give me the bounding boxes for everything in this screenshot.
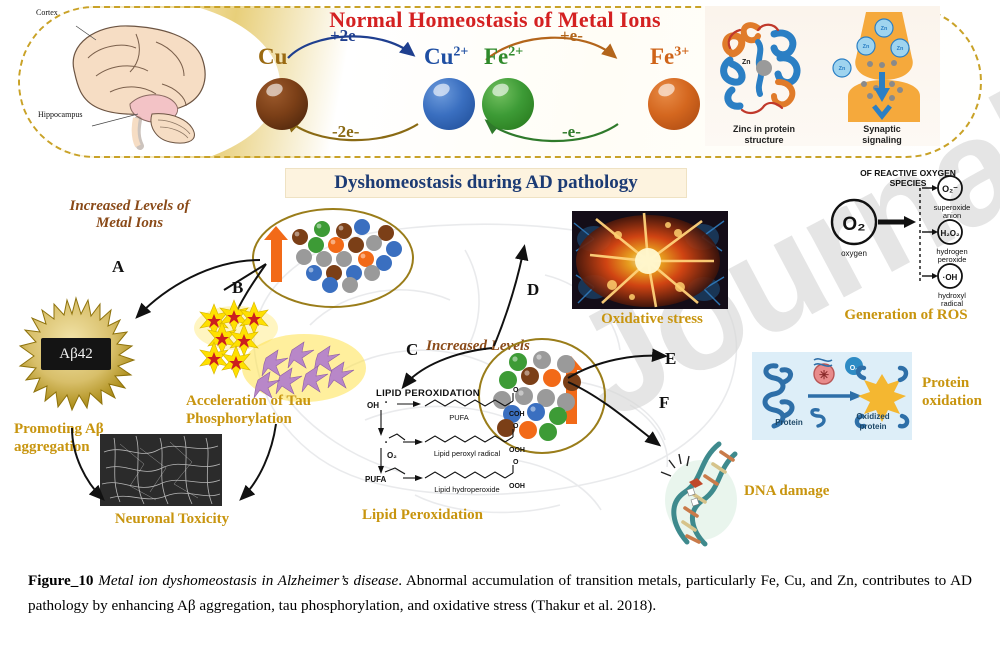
zinc-protein-caption: Zinc in protein structure [706, 124, 822, 146]
svg-text:PUFA: PUFA [365, 475, 387, 484]
species-label-fe2plus: Fe2+ [484, 44, 523, 70]
cluster-top-label: Increased Levels of Metal Ions [22, 198, 237, 232]
arrow-letter-d: D [527, 280, 539, 300]
brain-illustration-icon [44, 14, 234, 146]
svg-text:O: O [513, 423, 519, 430]
svg-text:OOH: OOH [509, 447, 525, 454]
svg-text:·OH: ·OH [943, 273, 958, 282]
svg-text:O: O [513, 459, 519, 466]
transition-label-plus1e: +e- [560, 26, 583, 46]
svg-text:Lipid peroxyl radical: Lipid peroxyl radical [434, 449, 501, 458]
svg-text:OH: OH [367, 401, 379, 410]
protein-inset-caption-right: Oxidized protein [840, 412, 906, 431]
synaptic-signaling-caption: Synaptic signaling [824, 124, 940, 146]
svg-text:•: • [385, 400, 387, 406]
label-oxidative-stress: Oxidative stress [568, 310, 736, 328]
svg-text:•: • [385, 440, 387, 446]
caption-title-italic: Metal ion dyshomeostasis in Alzheimer’s … [98, 572, 398, 589]
arrow-letter-a: A [112, 257, 124, 277]
protein-inset-caption-left: Protein [758, 418, 820, 428]
species-label-cu: Cu [258, 44, 287, 70]
svg-text:oxygen: oxygen [841, 249, 867, 258]
abeta42-chip-label: Aβ42 [41, 338, 111, 370]
redox-cycle-arrows [240, 20, 710, 150]
arrow-letter-c: C [406, 340, 418, 360]
middle-panel-title: Dyshomeostasis during AD pathology [285, 168, 687, 198]
brain-label-cortex: Cortex [36, 8, 58, 17]
svg-text:H₂O₂: H₂O₂ [940, 229, 960, 238]
transition-label-minus1e: -e- [562, 122, 581, 142]
arrows-to-neuronal-toxicity [54, 424, 304, 516]
svg-text:PUFA: PUFA [449, 413, 469, 422]
svg-text:anion: anion [943, 211, 961, 220]
label-lipid-peroxidation: Lipid Peroxidation [362, 506, 572, 524]
ion-sphere-fe2 [482, 78, 534, 130]
svg-text:peroxide: peroxide [938, 255, 967, 264]
ion-sphere-fe3 [648, 78, 700, 130]
synaptic-signaling-icon: ZnZnZnZn [830, 10, 938, 124]
svg-text:O₂: O₂ [387, 451, 397, 460]
oxidative-stress-neuron-image [572, 211, 728, 309]
caption-figure-number: Figure_10 [28, 572, 94, 589]
svg-text:Zn: Zn [742, 59, 751, 66]
dna-damage-icon [653, 438, 749, 546]
svg-text:Lipid hydroperoxide: Lipid hydroperoxide [434, 485, 499, 494]
label-dna-damage: DNA damage [744, 482, 894, 500]
arrow-letter-b: B [232, 278, 243, 298]
figure-image: Journal Pre-proof Normal Homeostasis of … [0, 0, 1000, 556]
label-acceleration-tau-phosphorylation: Acceleration of Tau Phosphorylation [186, 392, 386, 428]
brain-label-hippocampus: Hippocampus [38, 110, 82, 119]
ros-generation-diagram: O₂ oxygen O₂⁻ H₂O₂ ·OH superoxideanion h… [820, 170, 992, 308]
label-protein-oxidation: Protein oxidation [922, 374, 1000, 410]
transition-label-minus2e: -2e- [332, 122, 359, 142]
label-generation-of-ros: Generation of ROS [812, 306, 1000, 324]
transition-label-plus2e: +2e- [330, 26, 361, 46]
svg-text:Zn: Zn [897, 46, 904, 52]
svg-text:OOH: OOH [509, 483, 525, 490]
svg-text:O: O [513, 387, 519, 394]
ion-sphere-cu2 [423, 78, 475, 130]
arrow-letter-f: F [659, 393, 669, 413]
svg-text:Zn: Zn [839, 66, 846, 72]
species-label-fe3plus: Fe3+ [650, 44, 689, 70]
arrow-letter-e: E [665, 349, 676, 369]
svg-text:COH: COH [509, 411, 525, 418]
ion-sphere-cu [256, 78, 308, 130]
zinc-protein-structure-icon: Zn [712, 12, 822, 124]
svg-text:✳: ✳ [819, 368, 829, 382]
svg-text:O₂⁻: O₂⁻ [942, 184, 958, 194]
svg-text:O₂: O₂ [842, 214, 865, 235]
svg-text:Zn: Zn [881, 26, 888, 32]
svg-text:Zn: Zn [863, 44, 870, 50]
figure-caption: Figure_10 Metal ion dyshomeostasis in Al… [28, 568, 972, 618]
species-label-cu2plus: Cu2+ [424, 44, 468, 70]
lipid-peroxidation-diagram: OH• PUFA • O₂ O O O COH OOH OOH PUFA Lip… [363, 386, 553, 496]
